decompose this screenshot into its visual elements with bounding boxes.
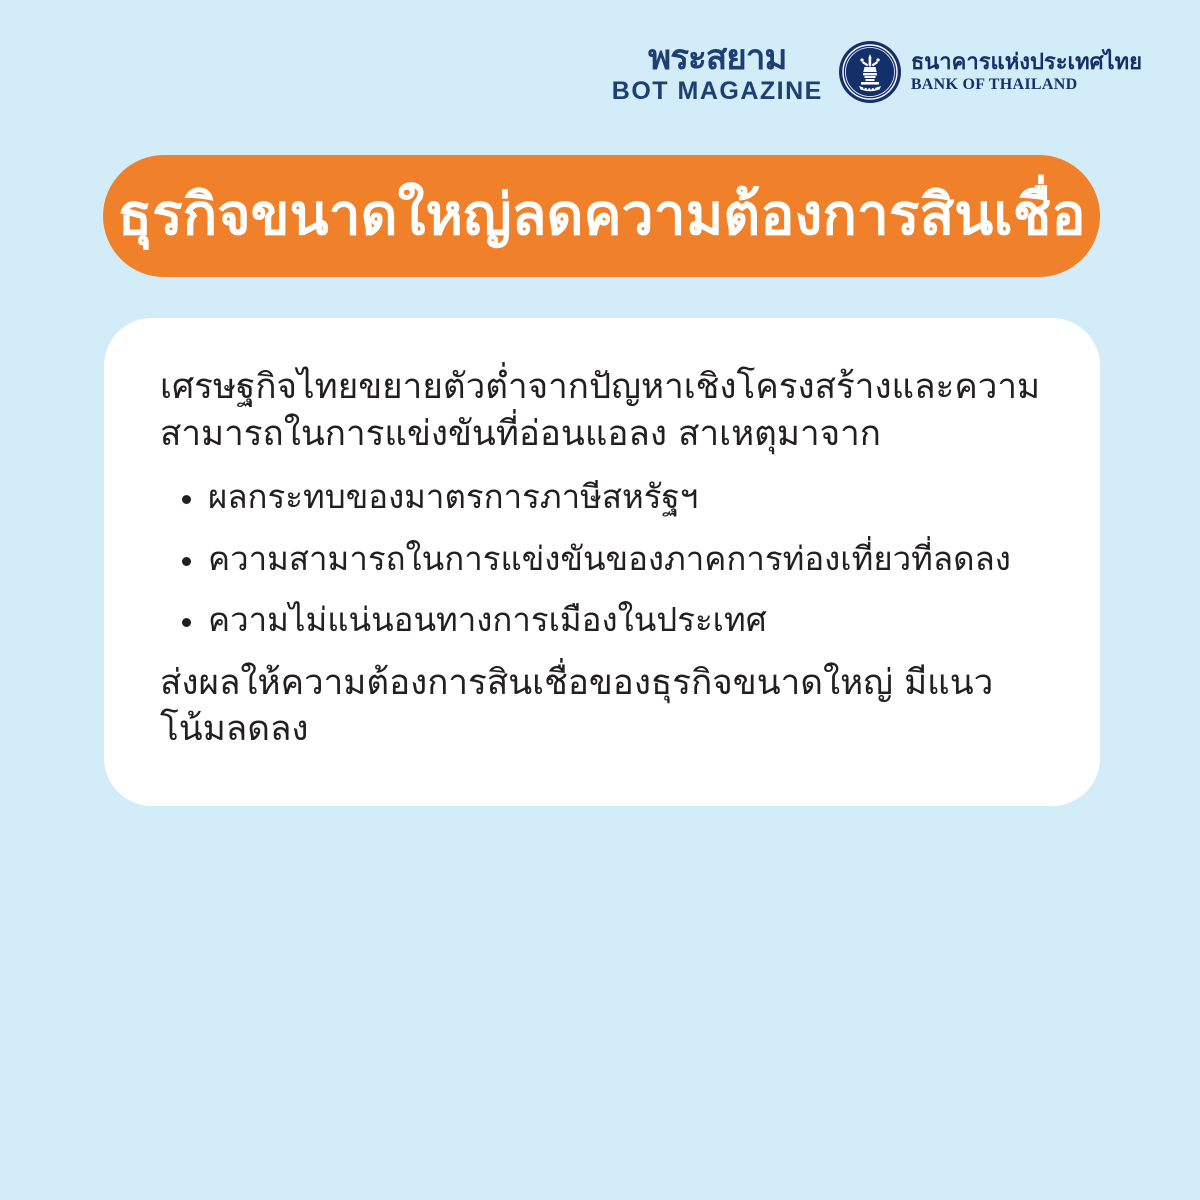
infographic-root: พระสยาม BOT MAGAZINE <box>0 0 1200 1200</box>
sky-background <box>0 820 1200 1200</box>
title-banner: ธุรกิจขนาดใหญ่ลดความต้องการสินเชื่อ <box>103 155 1100 277</box>
list-item: ความสามารถในการแข่งขันของภาคการท่องเที่ย… <box>160 537 1044 581</box>
bullet-dot-icon <box>182 618 191 627</box>
reasons-list: ผลกระทบของมาตรการภาษีสหรัฐฯ ความสามารถใน… <box>160 475 1044 642</box>
bullet-dot-icon <box>182 557 191 566</box>
magazine-english-name: BOT MAGAZINE <box>612 79 823 104</box>
bullet-dot-icon <box>182 495 191 504</box>
intro-paragraph: เศรษฐกิจไทยขยายตัวต่ำจากปัญหาเชิงโครงสร้… <box>160 364 1044 457</box>
bank-of-thailand-logo: ธนาคารแห่งประเทศไทย BANK OF THAILAND <box>839 41 1142 103</box>
bank-english-name: BANK OF THAILAND <box>911 77 1142 94</box>
list-item: ความไม่แน่นอนทางการเมืองในประเทศ <box>160 598 1044 642</box>
bank-of-thailand-seal-icon <box>839 41 901 103</box>
bank-thai-name: ธนาคารแห่งประเทศไทย <box>911 51 1142 74</box>
illustration-scene: ฿ <box>0 820 1200 1200</box>
content-card: เศรษฐกิจไทยขยายตัวต่ำจากปัญหาเชิงโครงสร้… <box>104 318 1100 806</box>
bank-names: ธนาคารแห่งประเทศไทย BANK OF THAILAND <box>911 51 1142 94</box>
illustration: ฿ <box>0 820 1200 1200</box>
magazine-logo: พระสยาม BOT MAGAZINE <box>612 41 823 104</box>
list-item-label: ความไม่แน่นอนทางการเมืองในประเทศ <box>208 598 1044 642</box>
list-item-label: ความสามารถในการแข่งขันของภาคการท่องเที่ย… <box>208 537 1044 581</box>
magazine-thai-name: พระสยาม <box>648 41 786 76</box>
header: พระสยาม BOT MAGAZINE <box>612 36 1142 108</box>
list-item: ผลกระทบของมาตรการภาษีสหรัฐฯ <box>160 475 1044 519</box>
outro-paragraph: ส่งผลให้ความต้องการสินเชื่อของธุรกิจขนาด… <box>160 660 1044 753</box>
list-item-label: ผลกระทบของมาตรการภาษีสหรัฐฯ <box>208 475 1044 519</box>
page-title: ธุรกิจขนาดใหญ่ลดความต้องการสินเชื่อ <box>117 186 1085 246</box>
